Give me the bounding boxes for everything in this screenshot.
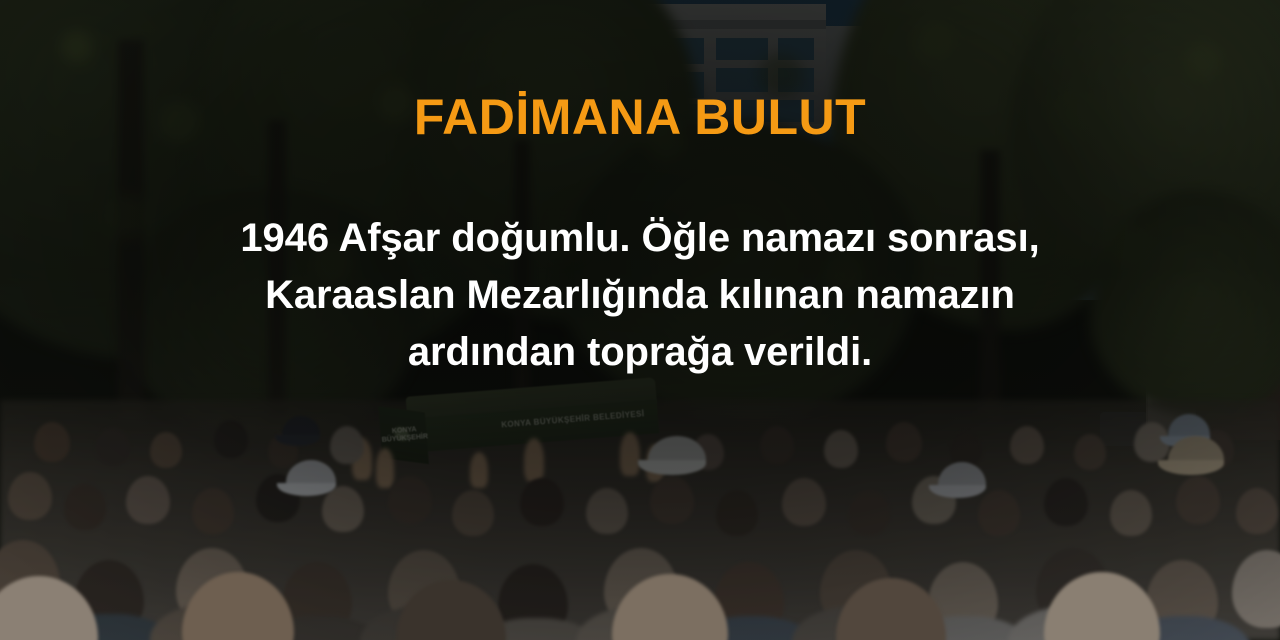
crowd — [0, 400, 1280, 640]
person-head — [34, 422, 70, 462]
person-cap — [286, 460, 336, 492]
person-head — [1232, 550, 1280, 628]
person-head — [8, 472, 52, 520]
memorial-card: KONYA BÜYÜKŞEHİR KONYA BÜYÜKŞEHİR BELEDİ… — [0, 0, 1280, 640]
person-head — [782, 478, 826, 526]
person-head — [1176, 476, 1220, 524]
person-head — [520, 478, 564, 526]
person-cap — [938, 462, 986, 494]
person-head — [886, 422, 922, 462]
person-head — [96, 428, 130, 466]
person-head — [586, 488, 628, 534]
person-head — [1044, 478, 1088, 526]
person-head — [760, 426, 794, 464]
person-head — [452, 490, 494, 536]
person-head — [1074, 434, 1106, 470]
person-head — [322, 486, 364, 532]
person-head — [848, 490, 890, 536]
person-head — [978, 490, 1020, 536]
person-cap — [282, 416, 320, 442]
person-head — [126, 476, 170, 524]
person-head — [150, 432, 182, 468]
person-head — [192, 488, 234, 534]
person-head — [64, 484, 106, 530]
person-head — [214, 420, 248, 458]
person-head — [388, 476, 432, 524]
person-head — [824, 430, 858, 468]
person-head — [1010, 426, 1044, 464]
person-head — [1236, 488, 1278, 534]
person-head — [716, 490, 758, 536]
background-photo: KONYA BÜYÜKŞEHİR KONYA BÜYÜKŞEHİR BELEDİ… — [0, 0, 1280, 640]
person-head — [1110, 490, 1152, 536]
person-head — [650, 476, 694, 524]
person-head — [330, 426, 364, 464]
